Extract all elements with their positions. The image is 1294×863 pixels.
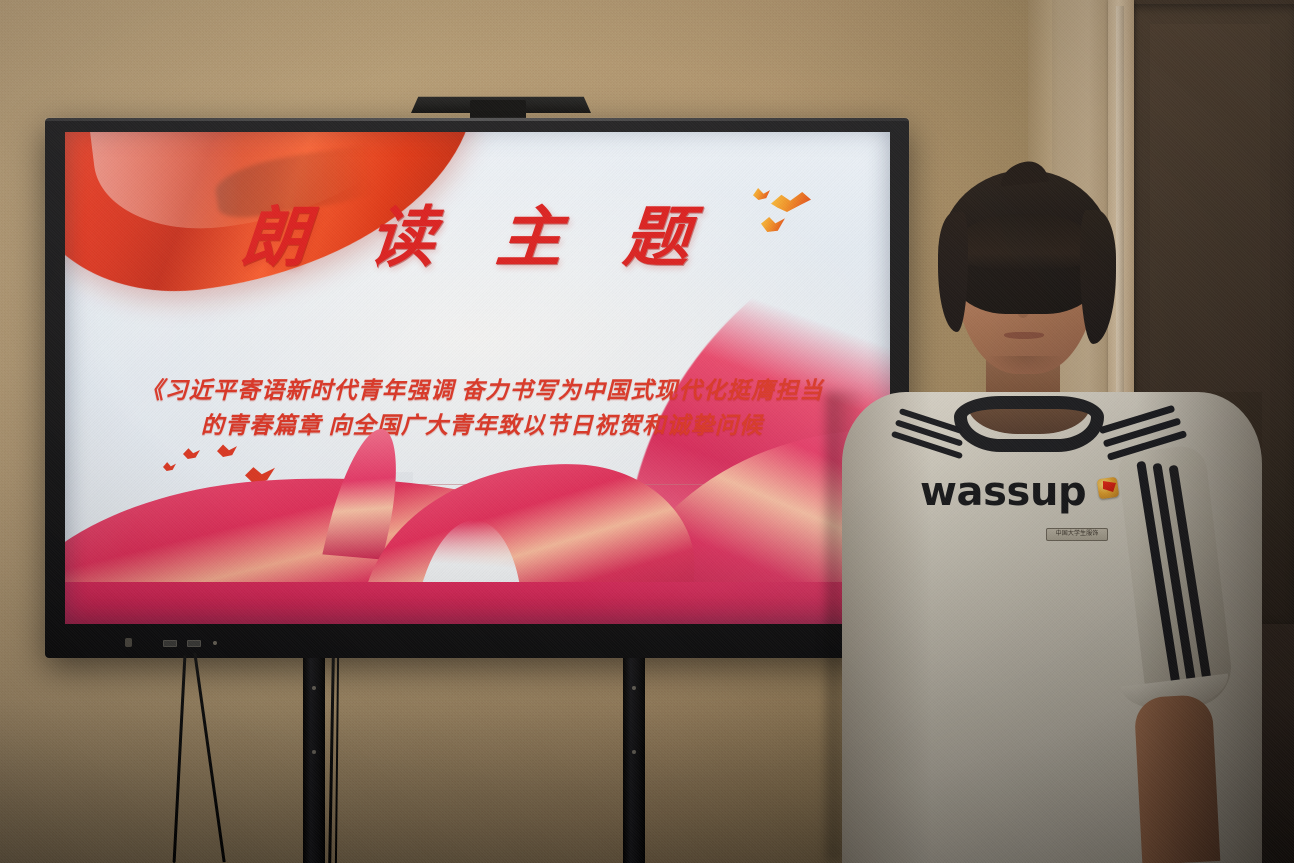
photo-scene: 朗 读 主 题 《习近平寄语新时代青年强调 奋力书写为中国式现代化挺膺担当的青春…: [0, 0, 1294, 863]
photo-vignette: [0, 0, 1294, 863]
